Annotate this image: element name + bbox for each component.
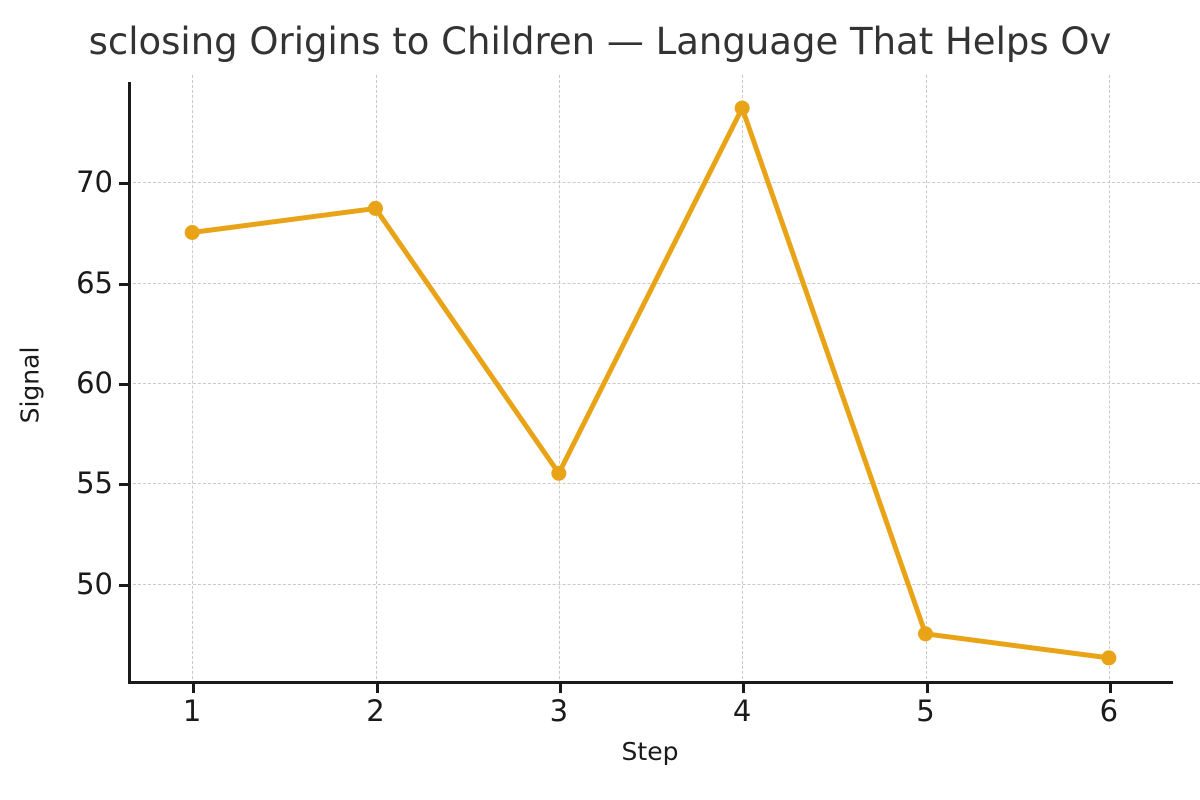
x-tick-label: 5 — [916, 694, 934, 728]
y-axis-spine — [128, 82, 131, 684]
y-tick-label: 55 — [0, 466, 113, 500]
x-axis-spine — [128, 681, 1173, 684]
x-tick-label: 2 — [366, 694, 384, 728]
x-axis-label: Step — [622, 737, 679, 766]
x-tick-mark — [559, 684, 562, 693]
x-tick-mark — [742, 684, 745, 693]
y-tick-mark — [119, 584, 128, 587]
x-tick-mark — [1109, 684, 1112, 693]
y-tick-label: 60 — [0, 366, 113, 400]
chart-figure: sclosing Origins to Children — Language … — [0, 0, 1200, 800]
x-tick-mark — [926, 684, 929, 693]
x-tick-label: 4 — [733, 694, 751, 728]
gridline-horizontal — [128, 383, 1200, 384]
gridline-vertical — [559, 75, 560, 684]
y-tick-mark — [119, 483, 128, 486]
gridline-horizontal — [128, 584, 1200, 585]
gridline-vertical — [1109, 75, 1110, 684]
y-tick-label: 70 — [0, 165, 113, 199]
plot-area: 5055606570 123456 — [128, 82, 1173, 684]
y-tick-label: 65 — [0, 266, 113, 300]
y-tick-label: 50 — [0, 567, 113, 601]
gridline-vertical — [376, 75, 377, 684]
x-tick-label: 6 — [1100, 694, 1118, 728]
y-tick-mark — [119, 283, 128, 286]
gridline-horizontal — [128, 182, 1200, 183]
gridline-horizontal — [128, 483, 1200, 484]
gridline-vertical — [926, 75, 927, 684]
x-tick-label: 1 — [183, 694, 201, 728]
x-tick-label: 3 — [550, 694, 568, 728]
gridline-vertical — [742, 75, 743, 684]
gridline-vertical — [192, 75, 193, 684]
y-tick-mark — [119, 383, 128, 386]
gridline-horizontal — [128, 283, 1200, 284]
x-tick-mark — [192, 684, 195, 693]
x-tick-mark — [376, 684, 379, 693]
y-tick-mark — [119, 182, 128, 185]
chart-title: sclosing Origins to Children — Language … — [89, 22, 1112, 63]
